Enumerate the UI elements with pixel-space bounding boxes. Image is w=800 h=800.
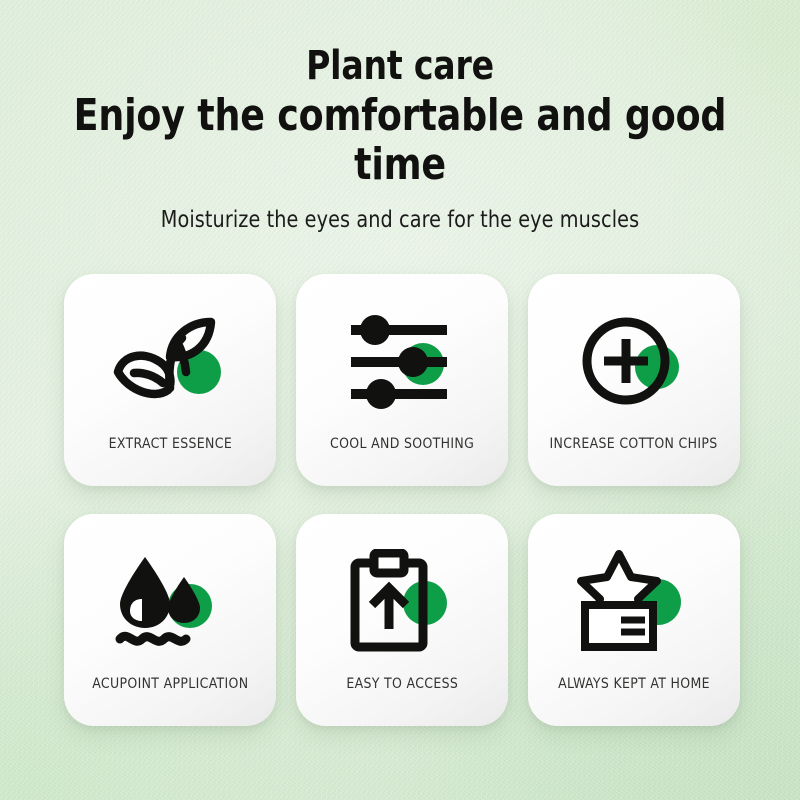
- feature-card-label: INCREASE COTTON CHIPS: [550, 436, 718, 486]
- feature-card-acupoint-application[interactable]: ACUPOINT APPLICATION: [64, 514, 276, 726]
- leaf-sprout-icon: [64, 274, 276, 436]
- water-droplets-icon: [64, 514, 276, 676]
- feature-card-extract-essence[interactable]: EXTRACT ESSENCE: [64, 274, 276, 486]
- feature-card-label: ALWAYS KEPT AT HOME: [558, 676, 710, 726]
- plus-circle-icon: [528, 274, 740, 436]
- feature-card-label: COOL AND SOOTHING: [330, 436, 474, 486]
- clipboard-upload-icon: [296, 514, 508, 676]
- page-title-line2: Enjoy the comfortable and good time: [32, 91, 768, 190]
- feature-card-always-kept-at-home[interactable]: ALWAYS KEPT AT HOME: [528, 514, 740, 726]
- promo-banner: Plant care Enjoy the comfortable and goo…: [0, 0, 800, 800]
- feature-card-increase-cotton-chips[interactable]: INCREASE COTTON CHIPS: [528, 274, 740, 486]
- feature-card-grid: EXTRACT ESSENCE COOL AND SOOTHING: [64, 274, 740, 726]
- feature-card-label: ACUPOINT APPLICATION: [92, 676, 248, 726]
- page-title-line1: Plant care: [32, 44, 768, 89]
- page-subtitle: Moisturize the eyes and care for the eye…: [28, 207, 772, 233]
- feature-card-cool-and-soothing[interactable]: COOL AND SOOTHING: [296, 274, 508, 486]
- feature-card-label: EXTRACT ESSENCE: [108, 436, 232, 486]
- equalizer-sliders-icon: [296, 274, 508, 436]
- feature-card-easy-to-access[interactable]: EASY TO ACCESS: [296, 514, 508, 726]
- feature-card-label: EASY TO ACCESS: [346, 676, 458, 726]
- star-box-icon: [528, 514, 740, 676]
